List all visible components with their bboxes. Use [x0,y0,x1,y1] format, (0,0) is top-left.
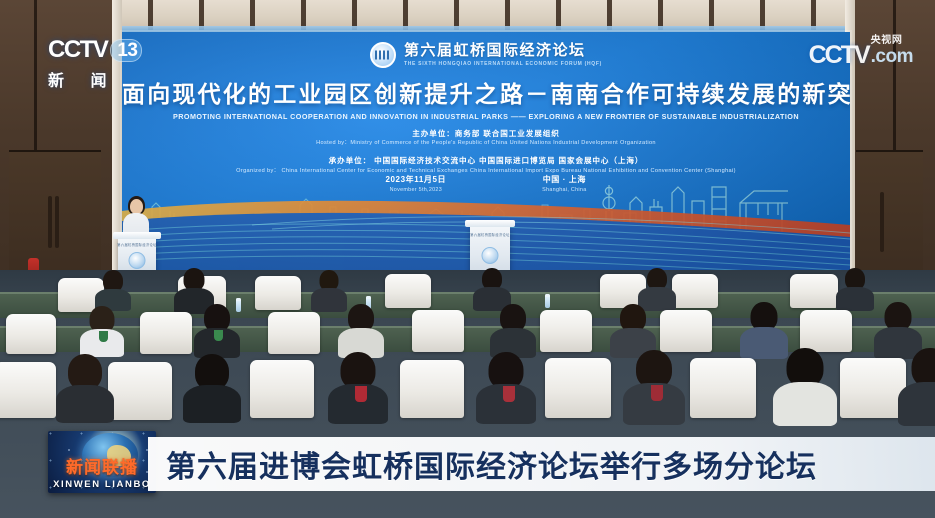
speaker-head [130,199,143,214]
audience-member [900,348,935,422]
chair [400,360,464,418]
forum-identity: 第六届虹桥国际经济论坛 THE SIXTH HONGQIAO INTERNATI… [122,42,850,68]
channel-name-cn: 新 闻 [48,67,142,91]
cctv-com-watermark: CCTV 央视网 .com [809,36,913,66]
forum-name-cn: 第六届虹桥国际经济论坛 [404,43,602,59]
audience-member [82,306,122,356]
podium-left-seal [129,252,146,269]
forum-emblem-icon [370,42,396,68]
hosts-cn: 主办单位：商务部 联合国工业发展组织 [122,128,850,139]
audience-member [96,270,130,310]
session-title-en: PROMOTING INTERNATIONAL COOPERATION AND … [122,112,850,121]
event-place: 中国 · 上海 Shanghai, China [542,174,586,193]
forum-name-en: THE SIXTH HONGQIAO INTERNATIONAL ECONOMI… [404,61,602,67]
watermark-cctv-text: CCTV [809,44,869,67]
cctv-wordmark: CCTV [48,38,107,62]
xinwen-lianbo-logo: 新闻联播 XINWEN LIANBO [48,431,156,493]
person-body [773,382,837,426]
audience-member [330,352,386,422]
watermark-com-text: .com [871,47,913,66]
forum-session-title: 面向现代化的工业园区创新提升之路－南南合作可持续发展的新突破分论坛 PROMOT… [122,82,850,121]
podium-center-text: 第六届虹桥国际经济论坛 [470,232,509,237]
channel-number-badge: 13 [110,39,142,62]
person-body [183,385,241,423]
event-date-cn: 2023年11月5日 [385,174,446,185]
audience-member [612,304,654,356]
organizers-group: 承办单位： 中国国际经济技术交流中心 中国国际进口博览局 国家会展中心（上海） … [122,155,850,175]
podium-center-seal [482,247,499,264]
podium-left-text: 第六届虹桥国际经济论坛 [117,242,156,247]
chair [108,362,172,420]
audience-member [625,350,683,422]
audience-member [838,268,872,310]
chair [250,360,314,418]
lanyard [214,330,223,341]
cctv13-logo: CCTV 13 新 闻 [48,38,142,91]
chair [545,358,611,418]
chair [840,358,906,418]
person-body [836,287,874,311]
lanyard [355,386,367,402]
program-name-en: XINWEN LIANBO [48,479,156,490]
lanyard [503,386,515,402]
session-title-cn: 面向现代化的工业园区创新提升之路－南南合作可持续发展的新突破分论坛 [122,82,850,107]
chair [140,312,192,354]
organizer-block: 主办单位：商务部 联合国工业发展组织 Hosted by：Ministry of… [122,128,850,176]
audience-member [492,304,534,356]
chair [412,310,464,352]
chair [0,362,56,418]
lower-third: 新闻联播 XINWEN LIANBO 第六届进博会虹桥国际经济论坛举行多场分论坛 [0,430,935,518]
watermark-cn-text: 央视网 [871,36,913,46]
chair [672,274,718,308]
audience-member [775,348,835,422]
chair [385,274,431,308]
chair [690,358,756,418]
audience-member [340,304,382,356]
chair [268,312,320,354]
audience-member [478,352,534,422]
event-date-en: November 5th,2023 [385,187,446,193]
lanyard [99,331,108,342]
chair [6,314,56,354]
program-name-cn: 新闻联播 [48,453,156,478]
date-place-bar: 2023年11月5日 November 5th,2023 中国 · 上海 Sha… [122,174,850,193]
event-place-cn: 中国 · 上海 [542,174,586,185]
hosts-group: 主办单位：商务部 联合国工业发展组织 Hosted by：Ministry of… [122,128,850,148]
chair [255,276,301,310]
water-bottle [545,294,550,308]
broadcast-screenshot: 第六届虹桥国际经济论坛 THE SIXTH HONGQIAO INTERNATI… [0,0,935,518]
chair [800,310,852,352]
lanyard [651,385,663,401]
audience-member [58,354,112,422]
event-date: 2023年11月5日 November 5th,2023 [385,174,446,193]
person-body [898,382,935,426]
chair [660,310,712,352]
chair [540,310,592,352]
news-headline: 第六届进博会虹桥国际经济论坛举行多场分论坛 [166,442,817,486]
audience-member [185,354,239,422]
person-body [56,385,114,423]
organizers-cn: 承办单位： 中国国际经济技术交流中心 中国国际进口博览局 国家会展中心（上海） [122,155,850,166]
news-ticker-bar: 第六届进博会虹桥国际经济论坛举行多场分论坛 [148,437,935,491]
audience-member [196,304,238,356]
chair [790,274,838,308]
event-place-en: Shanghai, China [542,187,586,193]
hosts-en: Hosted by：Ministry of Commerce of the Pe… [122,139,850,148]
